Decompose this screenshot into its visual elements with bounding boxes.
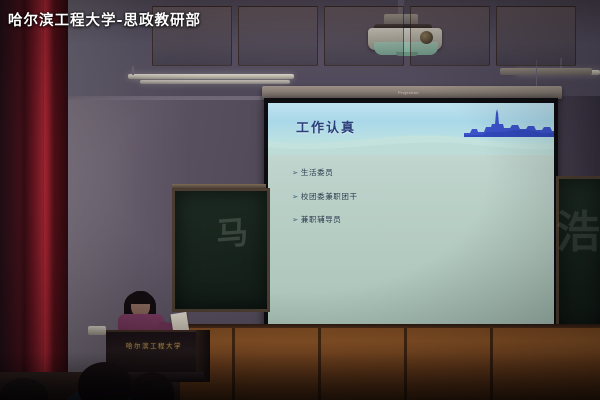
list-item: ➢ 生活委员	[292, 169, 502, 177]
fluorescent-light	[140, 80, 290, 84]
slide-title: 工作认真	[296, 117, 356, 136]
wainscot-seam	[490, 328, 493, 400]
wainscot-panel	[238, 6, 318, 66]
bullet-text: 校团委兼职团干	[301, 193, 358, 201]
bullet-arrow-icon: ➢	[292, 216, 299, 224]
classroom-photo: Projection 工作认真 ➢ 生活委员 ➢ 校团委兼职团干	[0, 0, 600, 400]
podium-object	[88, 326, 106, 335]
projection-screen: 工作认真 ➢ 生活委员 ➢ 校团委兼职团干 ➢ 兼职辅导员	[264, 98, 558, 331]
wainscot-panel	[496, 6, 576, 66]
bullet-text: 兼职辅导员	[301, 216, 342, 224]
fluorescent-light	[128, 74, 294, 79]
bullet-arrow-icon: ➢	[292, 193, 299, 201]
podium-university-label: 哈尔滨工程大学	[112, 340, 196, 350]
wainscot-panel	[410, 6, 490, 66]
list-item: ➢ 校团委兼职团干	[292, 193, 502, 201]
wainscot-seam	[232, 328, 235, 400]
wainscot-seam	[404, 328, 407, 400]
screen-support-arm	[500, 68, 592, 75]
light-rod	[132, 66, 134, 75]
list-item: ➢ 兼职辅导员	[292, 216, 502, 224]
chalk-writing-left: 马	[214, 207, 249, 255]
city-skyline-icon	[464, 107, 554, 137]
audience-head	[78, 362, 132, 400]
bullet-arrow-icon: ➢	[292, 169, 299, 177]
wainscot-panel	[324, 6, 404, 66]
curtain-highlight	[44, 0, 54, 400]
slide-bullet-list: ➢ 生活委员 ➢ 校团委兼职团干 ➢ 兼职辅导员	[292, 169, 502, 240]
slide-surface: 工作认真 ➢ 生活委员 ➢ 校团委兼职团干 ➢ 兼职辅导员	[268, 103, 554, 325]
photo-caption: 哈尔滨工程大学-思政教研部	[8, 9, 201, 30]
presenter-hair-top	[129, 291, 152, 304]
wood-wainscot	[146, 328, 600, 400]
bullet-text: 生活委员	[301, 169, 333, 177]
screen-brand-label: Projection	[398, 90, 438, 95]
wainscot-seam	[318, 328, 321, 400]
chalk-writing-right: 浩	[556, 196, 600, 260]
